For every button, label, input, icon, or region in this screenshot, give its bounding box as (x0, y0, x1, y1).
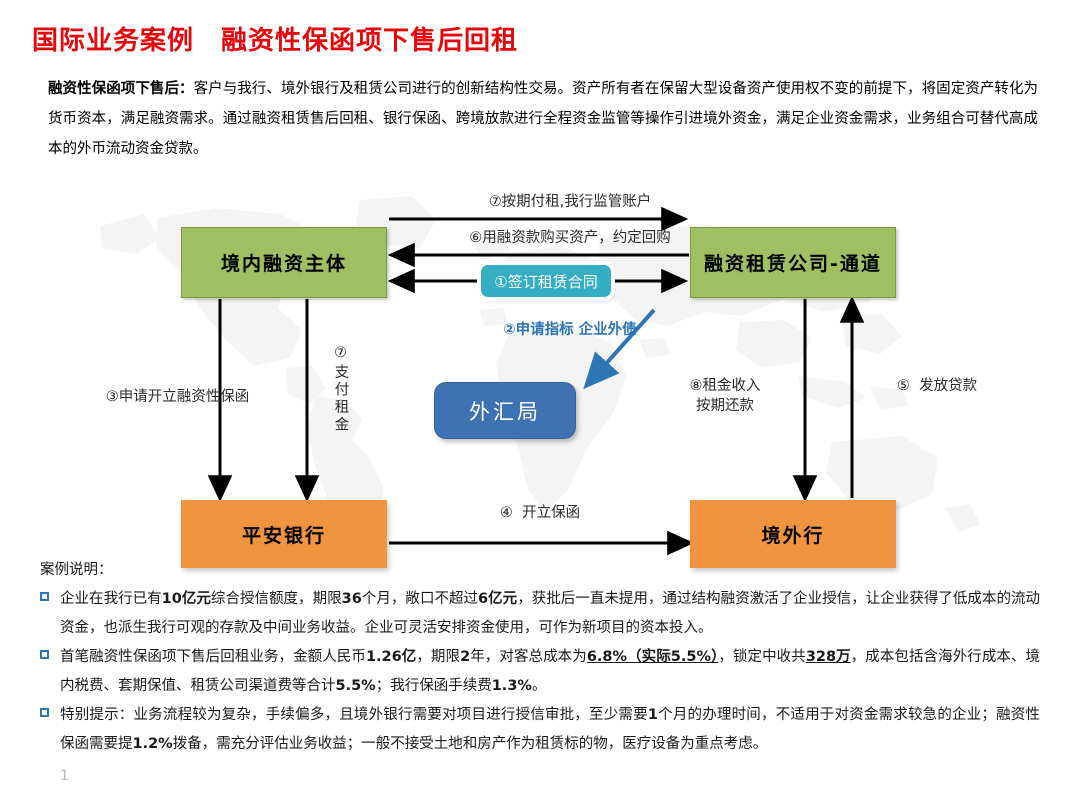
case-note-text: ；我行保函手续费 (376, 678, 492, 694)
case-note-text: 1.2% (133, 736, 173, 752)
case-note-text: 6亿元 (478, 591, 517, 607)
square-bullet-icon (40, 592, 49, 601)
intro-body: 客户与我行、境外银行及租赁公司进行的创新结构性交易。资产所有者在保留大型设备资产… (48, 81, 1038, 157)
case-note-text: 1.3% (492, 678, 532, 694)
node-domestic-entity-label: 境内融资主体 (221, 249, 347, 276)
flow-label-3: ③申请开立融资性保函 (60, 387, 295, 407)
case-note-text: 5.5% (336, 678, 376, 694)
case-note-text: 。 (532, 678, 547, 694)
node-leasing-company[interactable]: 融资租赁公司-通道 (690, 227, 896, 298)
case-note-text: 年，对客总成本为 (470, 649, 587, 665)
case-note-text: 综合授信额度，期限 (211, 591, 342, 607)
intro-paragraph: 融资性保函项下售后：客户与我行、境外银行及租赁公司进行的创新结构性交易。资产所有… (48, 74, 1038, 164)
node-safe-bureau[interactable]: 外汇局 (434, 382, 576, 439)
node-lease-contract[interactable]: ①签订租赁合同 (481, 265, 611, 297)
case-note-text: 10亿元 (162, 591, 211, 607)
page-number: 1 (60, 768, 69, 784)
case-note-text: 拨备，需充分评估业务收益；一般不接受土地和房产作为租赁标的物，医疗设备为重点考虑… (173, 736, 768, 752)
case-note-text: 首笔融资性保函项下售后回租业务，金额人民币 (60, 649, 366, 665)
case-notes: 案例说明： 企业在我行已有10亿元综合授信额度，期限36个月，敞口不超过6亿元，… (40, 556, 1040, 759)
slide-canvas: 国际业务案例 融资性保函项下售后回租 融资性保函项下售后：客户与我行、境外银行及… (0, 0, 1080, 810)
case-note-text: ，期限 (416, 649, 460, 665)
square-bullet-icon (40, 708, 49, 717)
case-note-text: 企业在我行已有 (60, 591, 162, 607)
flow-label-4: ④ 开立保函 (455, 503, 625, 523)
case-note-text: 2 (460, 649, 470, 665)
page-title: 国际业务案例 融资性保函项下售后回租 (32, 20, 518, 57)
case-note-text: 个月，敞口不超过 (362, 591, 478, 607)
flow-label-6: ⑥用融资款购买资产，约定回购 (430, 228, 710, 248)
case-notes-heading: 案例说明： (40, 556, 1040, 585)
node-safe-bureau-label: 外汇局 (469, 396, 541, 426)
node-offshore-bank-label: 境外行 (761, 521, 824, 548)
case-notes-list: 企业在我行已有10亿元综合授信额度，期限36个月，敞口不超过6亿元，获批后一直未… (40, 585, 1040, 759)
node-pingan-bank-label: 平安银行 (242, 521, 326, 548)
case-note-text: 1 (648, 707, 658, 723)
case-note-text: 36 (342, 591, 362, 607)
case-note-text: ，锁定中收共 (718, 649, 805, 665)
flow-label-5: ⑤ 发放贷款 (862, 376, 1012, 396)
case-note-text: 328万 (806, 649, 851, 665)
case-note-item: 企业在我行已有10亿元综合授信额度，期限36个月，敞口不超过6亿元，获批后一直未… (40, 585, 1040, 643)
case-note-text: 1.26亿 (366, 649, 416, 665)
flow-label-7-vertical: ⑦支付租金 (333, 345, 348, 434)
flow-label-2: ②申请指标 企业外债 (450, 320, 690, 340)
case-note-text: 6.8%（实际5.5%） (587, 649, 719, 665)
process-diagram: 境内融资主体 融资租赁公司-通道 外汇局 平安银行 境外行 ①签订租赁合同 ⑦按… (0, 180, 1080, 575)
node-leasing-company-label: 融资租赁公司-通道 (704, 249, 882, 276)
node-lease-contract-label: ①签订租赁合同 (494, 271, 597, 292)
case-note-item: 首笔融资性保函项下售后回租业务，金额人民币1.26亿，期限2年，对客总成本为6.… (40, 643, 1040, 701)
case-note-text: 特别提示：业务流程较为复杂，手续偏多，且境外银行需要对项目进行授信审批，至少需要 (60, 707, 648, 723)
square-bullet-icon (40, 650, 49, 659)
node-domestic-entity[interactable]: 境内融资主体 (181, 227, 387, 298)
flow-label-8: ⑧租金收入 按期还款 (655, 376, 795, 416)
flow-label-7-top: ⑦按期付租,我行监管账户 (440, 192, 700, 212)
case-note-item: 特别提示：业务流程较为复杂，手续偏多，且境外银行需要对项目进行授信审批，至少需要… (40, 701, 1040, 759)
intro-lead: 融资性保函项下售后： (48, 81, 194, 97)
